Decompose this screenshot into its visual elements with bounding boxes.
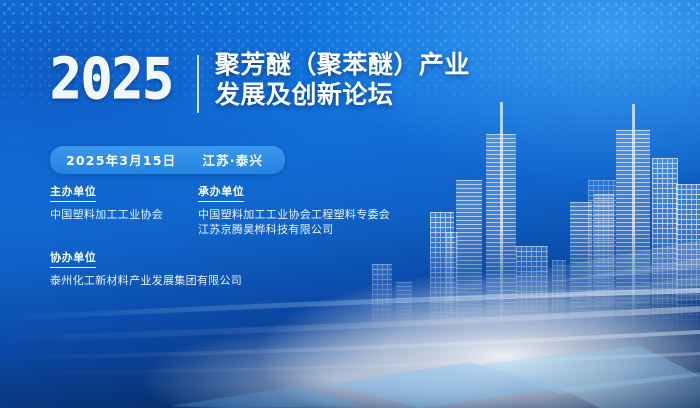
host-column: 主办单位 中国塑料加工工业协会 xyxy=(50,182,163,222)
host-label: 主办单位 xyxy=(50,183,96,202)
event-date: 2025年3月15日 xyxy=(66,150,176,169)
title-line-2: 发展及创新论坛 xyxy=(215,80,470,110)
coorganizer-column: 协办单位 泰州化工新材料产业发展集团有限公司 xyxy=(50,248,242,288)
title-block: 聚芳醚（聚苯醚）产业 发展及创新论坛 xyxy=(215,50,470,110)
year-text: 2025 xyxy=(50,52,173,108)
event-poster: 2025 聚芳醚（聚苯醚）产业 发展及创新论坛 2025年3月15日 江苏·泰兴… xyxy=(0,0,700,408)
undertaker-line: 中国塑料加工工业协会工程塑料专委会 xyxy=(198,207,390,222)
date-location-bar: 2025年3月15日 江苏·泰兴 xyxy=(50,146,285,174)
host-line: 中国塑料加工工业协会 xyxy=(50,207,163,222)
event-location: 江苏·泰兴 xyxy=(202,150,263,169)
title-line-1: 聚芳醚（聚苯醚）产业 xyxy=(215,50,470,80)
undertaker-line: 江苏京腾昊桦科技有限公司 xyxy=(198,222,390,237)
headline-divider xyxy=(197,55,199,113)
coorganizer-line: 泰州化工新材料产业发展集团有限公司 xyxy=(50,273,242,288)
coorganizer-label: 协办单位 xyxy=(50,249,96,268)
undertaker-column: 承办单位 中国塑料加工工业协会工程塑料专委会 江苏京腾昊桦科技有限公司 xyxy=(198,182,390,237)
headline-block: 2025 聚芳醚（聚苯醚）产业 发展及创新论坛 xyxy=(50,52,470,113)
organizers-block: 主办单位 中国塑料加工工业协会 承办单位 中国塑料加工工业协会工程塑料专委会 江… xyxy=(50,182,470,294)
undertaker-label: 承办单位 xyxy=(198,183,244,202)
